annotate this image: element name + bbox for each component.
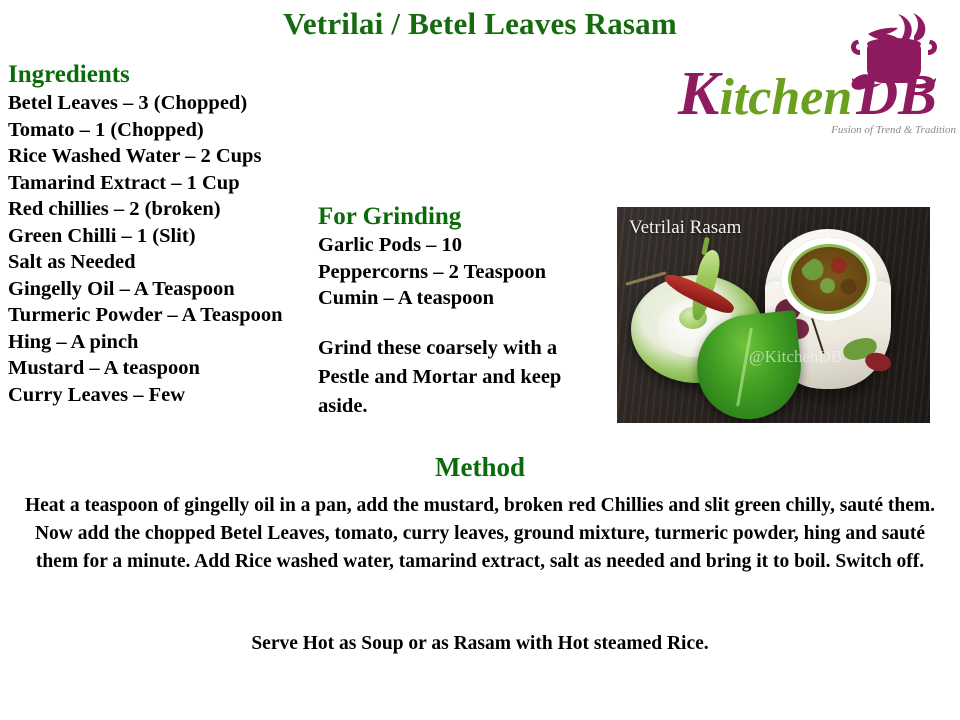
list-item: Peppercorns – 2 Teaspoon bbox=[318, 259, 608, 286]
logo-letter-k: K bbox=[678, 60, 719, 128]
grinding-heading: For Grinding bbox=[318, 202, 608, 232]
grinding-section: For Grinding Garlic Pods – 10 Peppercorn… bbox=[318, 202, 608, 421]
list-item: Red chillies – 2 (broken) bbox=[8, 196, 328, 223]
method-body-text: Heat a teaspoon of gingelly oil in a pan… bbox=[22, 492, 938, 576]
rasam-contents-shape bbox=[799, 255, 861, 303]
logo-wordmark: KitchenDB bbox=[678, 63, 956, 125]
list-item: Rice Washed Water – 2 Cups bbox=[8, 143, 328, 170]
grinding-note: Grind these coarsely with a Pestle and M… bbox=[318, 334, 596, 421]
list-item: Hing – A pinch bbox=[8, 329, 328, 356]
serving-suggestion-text: Serve Hot as Soup or as Rasam with Hot s… bbox=[22, 630, 938, 658]
logo-letters-db: DB bbox=[856, 62, 937, 127]
kitchen-db-logo: KitchenDB Fusion of Trend & Tradition bbox=[678, 8, 956, 146]
list-item: Curry Leaves – Few bbox=[8, 382, 328, 409]
ingredients-heading: Ingredients bbox=[8, 60, 328, 90]
logo-letters-itchen: itchen bbox=[719, 69, 852, 126]
list-item: Salt as Needed bbox=[8, 249, 328, 276]
list-item: Tomato – 1 (Chopped) bbox=[8, 117, 328, 144]
list-item: Betel Leaves – 3 (Chopped) bbox=[8, 90, 328, 117]
ingredients-section: Ingredients Betel Leaves – 3 (Chopped) T… bbox=[8, 60, 328, 408]
photo-watermark: @KitchenDB bbox=[749, 347, 842, 367]
list-item: Tamarind Extract – 1 Cup bbox=[8, 170, 328, 197]
dish-photo: Vetrilai Rasam @KitchenDB bbox=[617, 207, 930, 423]
ingredients-list: Betel Leaves – 3 (Chopped) Tomato – 1 (C… bbox=[8, 90, 328, 408]
list-item: Gingelly Oil – A Teaspoon bbox=[8, 276, 328, 303]
method-heading: Method bbox=[0, 452, 960, 483]
list-item: Mustard – A teaspoon bbox=[8, 355, 328, 382]
list-item: Green Chilli – 1 (Slit) bbox=[8, 223, 328, 250]
recipe-card: { "card": { "title": "Vetrilai / Betel L… bbox=[0, 0, 960, 720]
logo-tagline: Fusion of Trend & Tradition bbox=[774, 124, 956, 136]
photo-caption: Vetrilai Rasam bbox=[629, 217, 741, 239]
grinding-list: Garlic Pods – 10 Peppercorns – 2 Teaspoo… bbox=[318, 232, 608, 312]
list-item: Turmeric Powder – A Teaspoon bbox=[8, 302, 328, 329]
list-item: Garlic Pods – 10 bbox=[318, 232, 608, 259]
list-item: Cumin – A teaspoon bbox=[318, 285, 608, 312]
